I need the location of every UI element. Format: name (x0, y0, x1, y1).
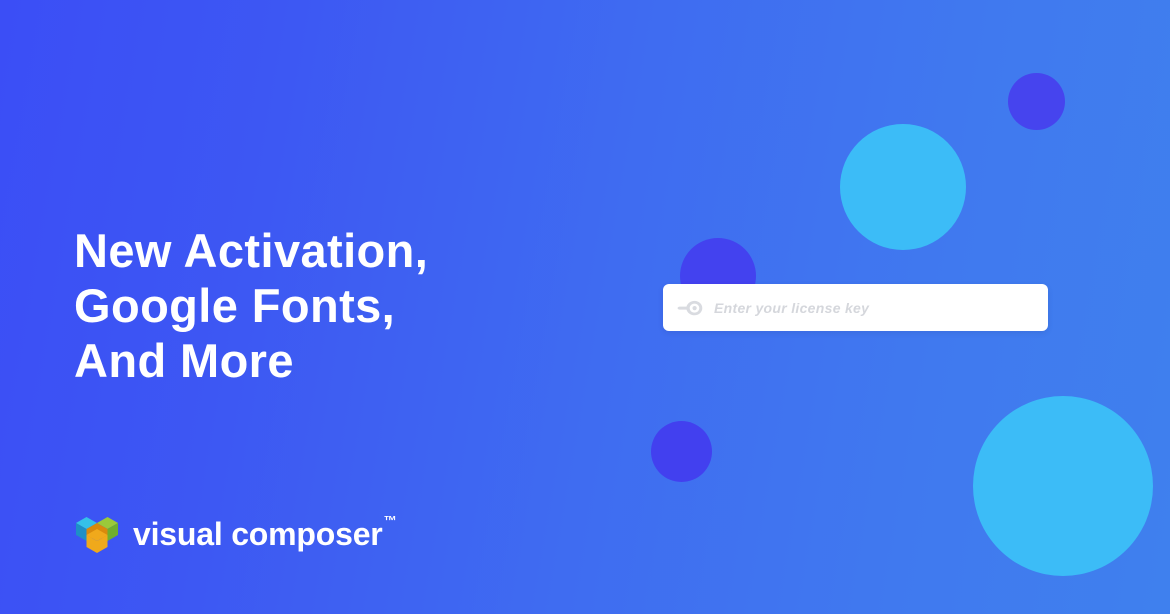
visual-composer-logo: visual composer™ (74, 512, 396, 554)
promo-banner: New Activation, Google Fonts, And More v… (0, 0, 1170, 614)
decorative-circle-dark-top-right (1008, 73, 1065, 130)
logo-wordmark-text: visual composer (133, 516, 383, 552)
license-key-field[interactable] (663, 284, 1048, 331)
logo-wordmark: visual composer™ (133, 518, 396, 550)
decorative-circle-dark-bottom-left (651, 421, 712, 482)
banner-headline: New Activation, Google Fonts, And More (74, 223, 428, 388)
decorative-circle-light-bottom (973, 396, 1153, 576)
logo-trademark: ™ (384, 513, 397, 528)
decorative-circle-light-top (840, 124, 966, 250)
license-key-input[interactable] (714, 300, 1034, 316)
key-icon (677, 300, 703, 316)
visual-composer-cubes-logo-icon (74, 512, 120, 554)
